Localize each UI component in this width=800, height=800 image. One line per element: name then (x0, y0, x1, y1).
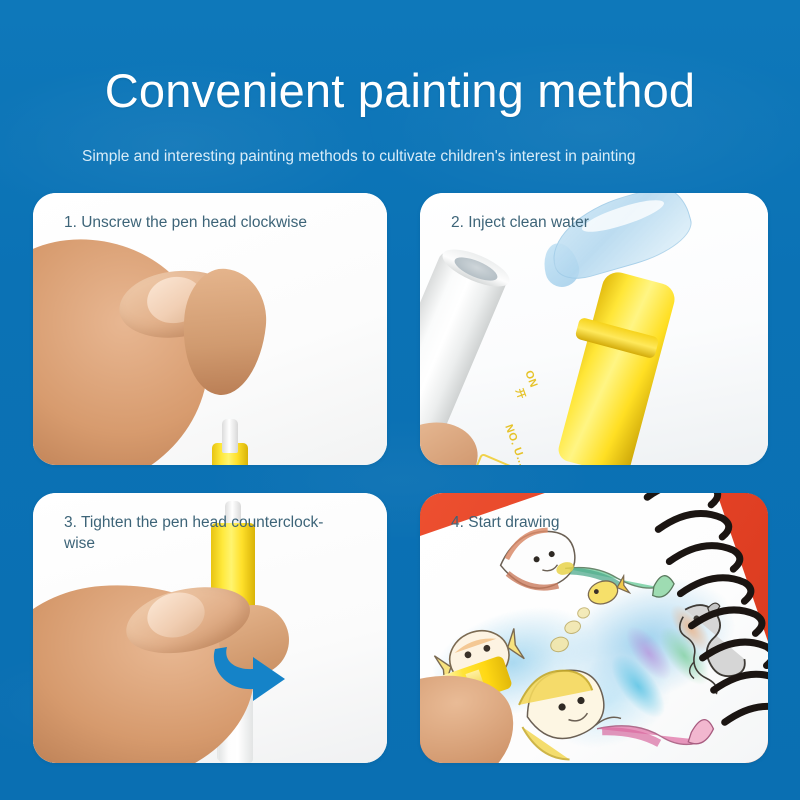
step-3-caption: 3. Tighten the pen head counterclock- wi… (64, 512, 354, 554)
page-subtitle: Simple and interesting painting methods … (82, 144, 718, 169)
step-2-caption: 2. Inject clean water (451, 212, 741, 233)
step-1-caption: 1. Unscrew the pen head clockwise (64, 212, 354, 233)
page-title: Convenient painting method (0, 64, 800, 118)
pen-tip (222, 419, 238, 453)
curved-arrow-right-icon (201, 643, 293, 707)
step-4-caption: 4. Start drawing (451, 512, 741, 533)
step-card-2[interactable]: ON 开 NO. U... 2. Inject clean water (420, 193, 768, 465)
step-2-photo: ON 开 NO. U... (420, 193, 768, 465)
step-card-1[interactable]: 1. Unscrew the pen head clockwise (33, 193, 387, 465)
step-card-4[interactable]: 4. Start drawing (420, 493, 768, 763)
step-1-photo (33, 193, 387, 465)
step-card-3[interactable]: 3. Tighten the pen head counterclock- wi… (33, 493, 387, 763)
step-4-photo (420, 493, 768, 763)
